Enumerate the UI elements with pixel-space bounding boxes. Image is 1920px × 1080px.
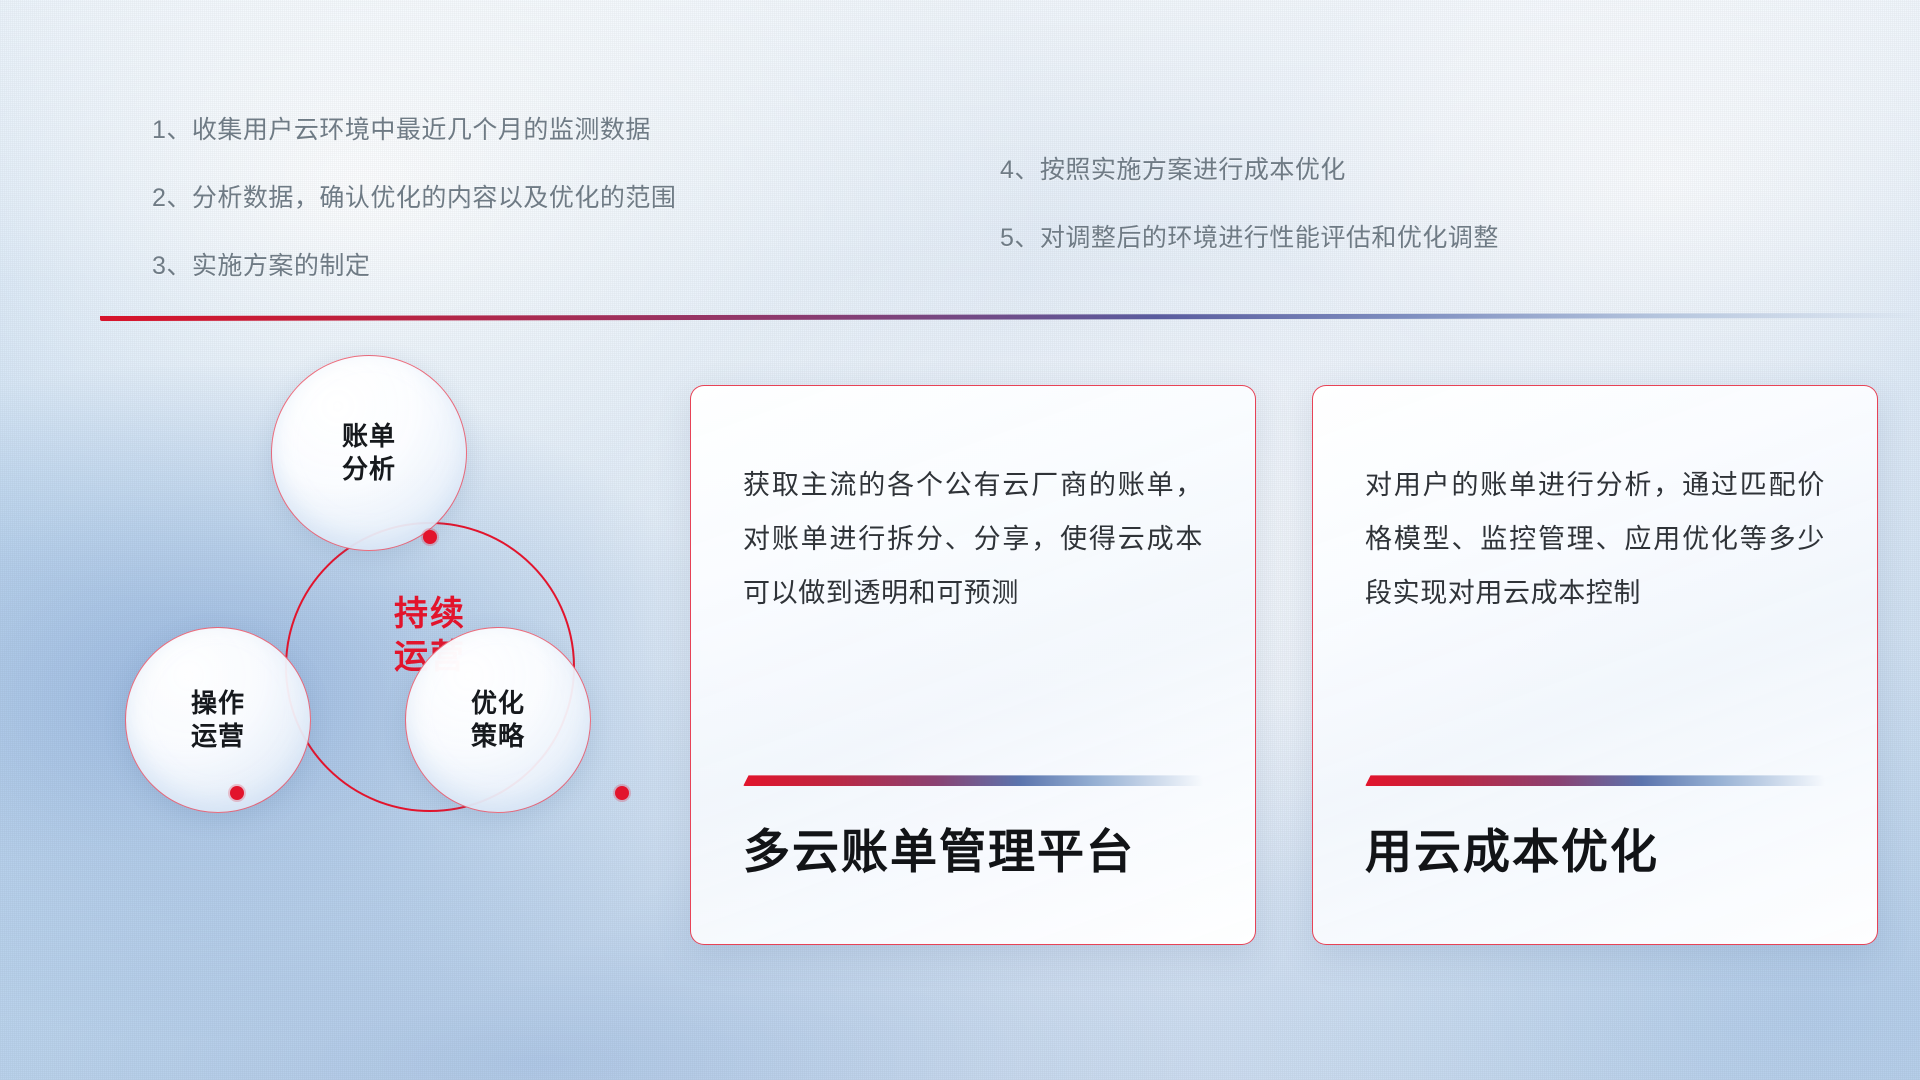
process-steps-section: 1、收集用户云环境中最近几个月的监测数据 2、分析数据，确认优化的内容以及优化的… [0, 0, 1920, 300]
diagram-bubble-label-line1: 优化 [471, 687, 525, 720]
diagram-bubble-optimize-strategy[interactable]: 优化 策略 [405, 627, 591, 813]
diagram-bubble-operation[interactable]: 操作 运营 [125, 627, 311, 813]
feature-card-title: 用云成本优化 [1365, 826, 1825, 878]
feature-card-title: 多云账单管理平台 [743, 826, 1203, 878]
diagram-bubble-label-line2: 分析 [342, 453, 396, 486]
process-step-item: 5、对调整后的环境进行性能评估和优化调整 [1000, 226, 1499, 251]
diagram-bubble-label-line2: 运营 [191, 720, 245, 753]
diagram-node-dot-top [423, 530, 437, 544]
feature-cards-section: 获取主流的各个公有云厂商的账单，对账单进行拆分、分享，使得云成本可以做到透明和可… [690, 385, 1878, 945]
diagram-bubble-label-line1: 操作 [191, 687, 245, 720]
process-steps-left-column: 1、收集用户云环境中最近几个月的监测数据 2、分析数据，确认优化的内容以及优化的… [152, 118, 676, 322]
continuous-operation-diagram: 持续 运营 账单 分析 操作 运营 优化 策略 [95, 355, 615, 915]
diagram-bubble-label: 优化 策略 [471, 687, 525, 754]
process-steps-right-column: 4、按照实施方案进行成本优化 5、对调整后的环境进行性能评估和优化调整 [1000, 158, 1499, 294]
diagram-bubble-label: 操作 运营 [191, 687, 245, 754]
process-step-item: 1、收集用户云环境中最近几个月的监测数据 [152, 118, 676, 143]
feature-card-multi-cloud-bill-platform[interactable]: 获取主流的各个公有云厂商的账单，对账单进行拆分、分享，使得云成本可以做到透明和可… [690, 385, 1256, 945]
feature-card-divider [743, 775, 1203, 786]
diagram-bubble-label: 账单 分析 [342, 420, 396, 487]
process-step-item: 2、分析数据，确认优化的内容以及优化的范围 [152, 186, 676, 211]
diagram-bubble-label-line1: 账单 [342, 420, 396, 453]
diagram-bubble-label-line2: 策略 [471, 720, 525, 753]
diagram-bubble-bill-analysis[interactable]: 账单 分析 [271, 355, 467, 551]
feature-card-body: 对用户的账单进行分析，通过匹配价格模型、监控管理、应用优化等多少段实现对用云成本… [1365, 458, 1825, 620]
process-step-item: 4、按照实施方案进行成本优化 [1000, 158, 1499, 183]
diagram-node-dot-right [615, 786, 629, 800]
feature-card-divider [1365, 775, 1825, 786]
process-step-item: 3、实施方案的制定 [152, 254, 676, 279]
feature-card-cloud-cost-optimization[interactable]: 对用户的账单进行分析，通过匹配价格模型、监控管理、应用优化等多少段实现对用云成本… [1312, 385, 1878, 945]
diagram-center-label-line1: 持续 [285, 593, 575, 636]
diagram-node-dot-left [230, 786, 244, 800]
feature-card-body: 获取主流的各个公有云厂商的账单，对账单进行拆分、分享，使得云成本可以做到透明和可… [743, 458, 1203, 620]
